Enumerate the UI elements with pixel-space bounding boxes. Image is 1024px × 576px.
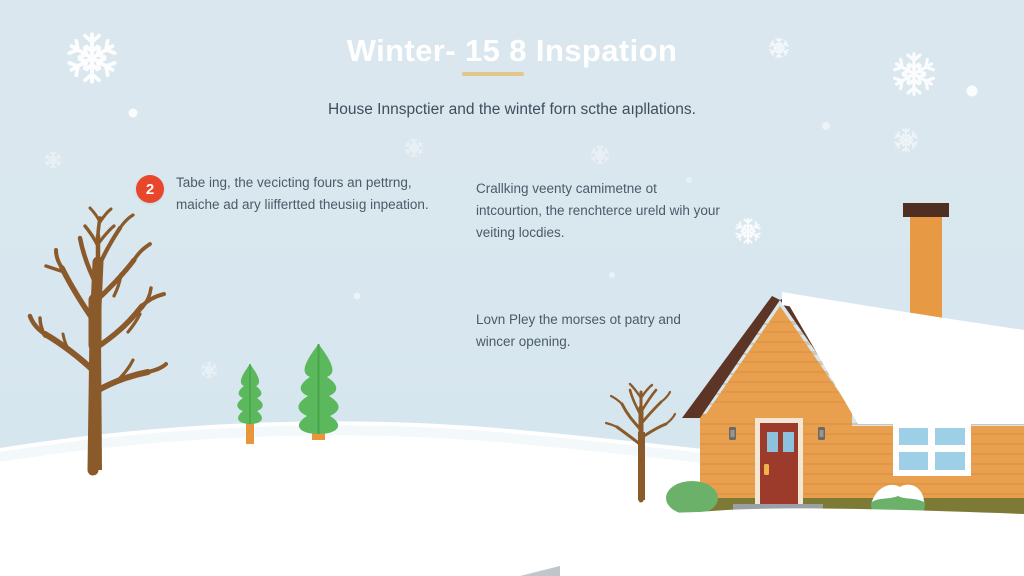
left-column-paragraph: Tabe ing, the vecicting fours an pettrng… bbox=[176, 172, 436, 216]
step-number-badge: 2 bbox=[136, 175, 164, 203]
page-title: Winter- 15 8 Inspation bbox=[0, 33, 1024, 69]
page-subtitle: House Innspctier and the wintef forn sct… bbox=[0, 100, 1024, 120]
infographic-canvas: Winter- 15 8 Inspation House Innspctier … bbox=[0, 0, 1024, 576]
right-column-paragraph-one: Crallking veenty camimetne ot intcourtio… bbox=[476, 178, 721, 244]
right-column-block-one: Crallking veenty camimetne ot intcourtio… bbox=[476, 178, 721, 244]
left-column: 2 Tabe ing, the vecicting fours an pettr… bbox=[136, 172, 436, 216]
right-column-block-two: Lovn Pley the morses ot patry and wincer… bbox=[476, 309, 721, 353]
text-layer: Winter- 15 8 Inspation House Innspctier … bbox=[0, 0, 1024, 576]
title-underline-rule bbox=[462, 72, 524, 76]
bullet-item: 2 Tabe ing, the vecicting fours an pettr… bbox=[136, 172, 436, 216]
right-column-paragraph-two: Lovn Pley the morses ot patry and wincer… bbox=[476, 309, 721, 353]
